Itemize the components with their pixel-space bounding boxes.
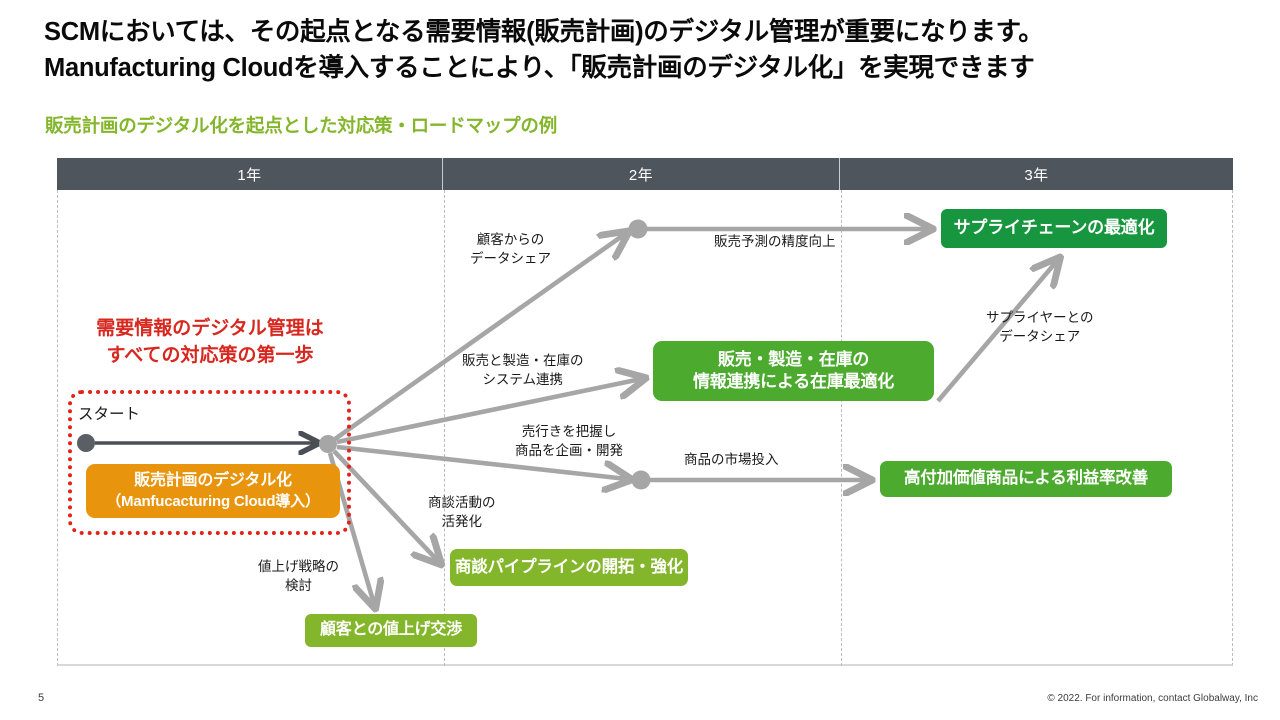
timeline-header: 1年 2年 3年	[57, 158, 1233, 190]
node-inventory-line-2: 情報連携による在庫最適化	[693, 371, 894, 393]
footer-copyright: © 2022. For information, contact Globalw…	[1047, 693, 1258, 704]
section-subtitle: 販売計画のデジタル化を起点とした対応策・ロードマップの例	[45, 112, 557, 138]
node-sales-plan-line-2: （Manfucacturing Cloud導入）	[106, 492, 320, 512]
edge-label-supplier-data-share: サプライヤーとの データシェア	[986, 308, 1093, 346]
page-title: SCMにおいては、その起点となる需要情報(販売計画)のデジタル管理が重要になりま…	[44, 14, 1254, 86]
start-label: スタート	[78, 402, 140, 424]
edge-label-product-development: 売行きを把握し 商品を企画・開発	[515, 422, 623, 460]
edge-label-price-strategy: 値上げ戦略の 検討	[258, 557, 339, 595]
node-negotiation-label: 顧客との値上げ交渉	[320, 620, 462, 641]
timeline-column-year1: 1年	[57, 158, 443, 190]
node-inventory-line-1: 販売・製造・在庫の	[693, 349, 894, 371]
emphasis-note: 需要情報のデジタル管理は すべての対応策の第一歩	[70, 316, 350, 370]
column-divider-1	[444, 190, 445, 666]
node-supply-chain-optimization[interactable]: サプライチェーンの最適化	[941, 209, 1167, 248]
node-pipeline-label: 商談パイプラインの開拓・強化	[455, 557, 683, 578]
edge-label-market-introduction: 商品の市場投入	[684, 450, 779, 469]
emphasis-line-2: すべての対応策の第一歩	[70, 343, 350, 370]
node-profit-label: 高付加価値商品による利益率改善	[904, 468, 1148, 489]
footer-page-number: 5	[38, 692, 44, 704]
edge-label-system-link: 販売と製造・在庫の システム連携	[462, 351, 584, 389]
edge-label-customer-data-share: 顧客からの データシェア	[470, 230, 551, 268]
emphasis-line-1: 需要情報のデジタル管理は	[70, 316, 350, 343]
column-divider-2	[841, 190, 842, 666]
title-line-2: Manufacturing Cloudを導入することにより、「販売計画のデジタル…	[44, 50, 1254, 86]
node-sales-plan-digitalization[interactable]: 販売計画のデジタル化 （Manfucacturing Cloud導入）	[86, 464, 340, 518]
timeline-column-year3: 3年	[840, 158, 1233, 190]
node-price-negotiation[interactable]: 顧客との値上げ交渉	[305, 614, 477, 647]
node-profit-improvement[interactable]: 高付加価値商品による利益率改善	[880, 461, 1172, 497]
node-deal-pipeline[interactable]: 商談パイプラインの開拓・強化	[450, 549, 688, 586]
edge-label-sales-forecast: 販売予測の精度向上	[714, 232, 836, 251]
timeline-column-year2: 2年	[443, 158, 840, 190]
node-sales-plan-line-1: 販売計画のデジタル化	[106, 471, 320, 492]
node-supply-chain-label: サプライチェーンの最適化	[954, 217, 1155, 239]
edge-label-deal-activity: 商談活動の 活発化	[428, 493, 496, 531]
title-line-1: SCMにおいては、その起点となる需要情報(販売計画)のデジタル管理が重要になりま…	[44, 14, 1254, 50]
node-inventory-optimization[interactable]: 販売・製造・在庫の 情報連携による在庫最適化	[653, 341, 934, 401]
